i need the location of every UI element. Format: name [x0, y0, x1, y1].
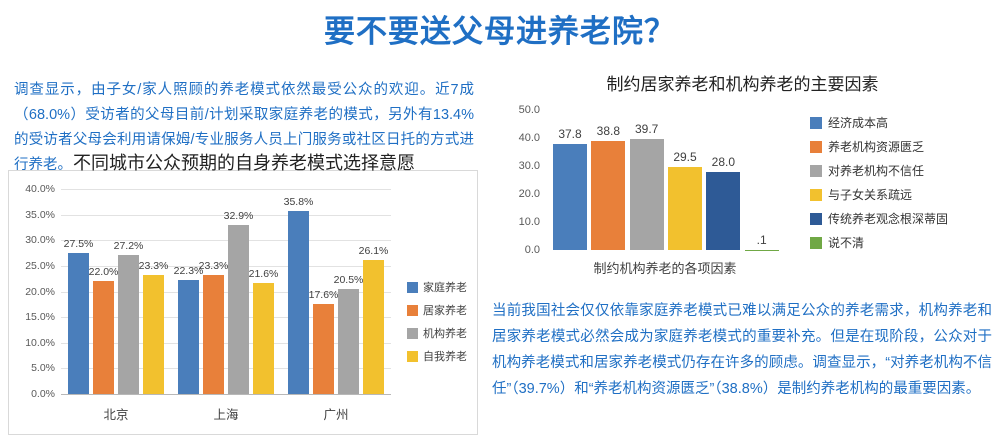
legend-swatch-icon — [810, 213, 822, 225]
right-y-tick: 0.0 — [525, 244, 540, 256]
left-legend-label: 自我养老 — [423, 348, 467, 364]
right-bar-value-label: 29.5 — [673, 150, 696, 164]
legend-swatch-icon — [810, 117, 822, 129]
left-y-tick: 20.0% — [25, 286, 55, 298]
left-legend-item[interactable]: 自我养老 — [407, 348, 467, 364]
left-legend-label: 机构养老 — [423, 325, 467, 341]
left-bar: 17.6% — [313, 304, 334, 394]
left-legend-item[interactable]: 机构养老 — [407, 325, 467, 341]
right-legend-item[interactable]: 说不清 — [810, 234, 948, 251]
left-legend-label: 家庭养老 — [423, 279, 467, 295]
left-x-tick: 广州 — [323, 404, 348, 423]
legend-swatch-icon — [810, 141, 822, 153]
left-bar-value-label: 32.9% — [224, 210, 254, 222]
left-bar: 22.3% — [178, 280, 199, 394]
left-bar-value-label: 21.6% — [249, 268, 279, 280]
legend-swatch-icon — [810, 165, 822, 177]
left-bar-value-label: 27.5% — [64, 238, 94, 250]
left-bar: 20.5% — [338, 289, 359, 394]
right-bar-value-label: 38.8 — [597, 124, 620, 138]
left-y-tick: 15.0% — [25, 311, 55, 323]
right-legend-item[interactable]: 经济成本高 — [810, 114, 948, 131]
left-chart-title: 不同城市公众预期的自身养老模式选择意愿 — [9, 149, 479, 175]
right-chart-legend: 经济成本高养老机构资源匮乏对养老机构不信任与子女关系疏远传统养老观念根深蒂固说不… — [810, 114, 948, 258]
left-bar: 23.3% — [143, 275, 164, 394]
left-y-tick: 10.0% — [25, 337, 55, 349]
left-chart-plot-area: 27.5%22.0%27.2%23.3%22.3%23.3%32.9%21.6%… — [61, 189, 391, 394]
left-y-tick: 25.0% — [25, 260, 55, 272]
legend-swatch-icon — [407, 305, 418, 316]
legend-swatch-icon — [407, 351, 418, 362]
left-bar-value-label: 35.8% — [284, 196, 314, 208]
right-legend-label: 养老机构资源匮乏 — [828, 138, 924, 155]
left-bar: 22.0% — [93, 281, 114, 394]
left-bar: 26.1% — [363, 260, 384, 394]
left-bar-value-label: 23.3% — [139, 260, 169, 272]
left-legend-item[interactable]: 居家养老 — [407, 302, 467, 318]
left-legend-label: 居家养老 — [423, 302, 467, 318]
left-x-tick: 上海 — [213, 404, 238, 423]
left-y-tick: 40.0% — [25, 183, 55, 195]
right-bar: 29.5 — [668, 167, 702, 250]
right-chart: 制约居家养老和机构养老的主要因素 50.040.030.020.010.00.0… — [490, 70, 995, 285]
left-bar: 23.3% — [203, 275, 224, 394]
right-bar: 37.8 — [553, 144, 587, 250]
left-bar-value-label: 20.5% — [334, 274, 364, 286]
right-bar-value-label: 39.7 — [635, 122, 658, 136]
right-y-tick: 20.0 — [519, 188, 540, 200]
left-x-tick: 北京 — [103, 404, 128, 423]
left-chart-legend: 家庭养老居家养老机构养老自我养老 — [407, 279, 467, 371]
right-y-tick: 30.0 — [519, 160, 540, 172]
legend-swatch-icon — [407, 282, 418, 293]
left-bar-group: 22.3%23.3%32.9%21.6% — [171, 189, 281, 394]
right-y-tick: 40.0 — [519, 132, 540, 144]
left-bar-value-label: 22.0% — [89, 266, 119, 278]
left-bar-value-label: 23.3% — [199, 260, 229, 272]
right-legend-label: 对养老机构不信任 — [828, 162, 924, 179]
left-bar: 27.5% — [68, 253, 89, 394]
left-bar: 32.9% — [228, 225, 249, 394]
left-bar-value-label: 17.6% — [309, 289, 339, 301]
right-bar: 38.8 — [591, 141, 625, 250]
right-chart-title: 制约居家养老和机构养老的主要因素 — [490, 70, 995, 95]
right-legend-item[interactable]: 对养老机构不信任 — [810, 162, 948, 179]
left-y-tick: 0.0% — [31, 388, 55, 400]
right-legend-label: 经济成本高 — [828, 114, 888, 131]
legend-swatch-icon — [407, 328, 418, 339]
left-chart: 不同城市公众预期的自身养老模式选择意愿 40.0%35.0%30.0%25.0%… — [8, 170, 478, 435]
legend-swatch-icon — [810, 237, 822, 249]
left-axis-line — [61, 394, 391, 395]
left-bar-value-label: 27.2% — [114, 240, 144, 252]
conclusion-paragraph: 当前我国社会仅仅依靠家庭养老模式已难以满足公众的养老需求，机构养老和居家养老模式… — [492, 298, 992, 402]
right-chart-plot-area: 37.838.839.729.528.0.1 — [550, 110, 780, 250]
right-bar-value-label: 28.0 — [712, 155, 735, 169]
left-bar-group: 27.5%22.0%27.2%23.3% — [61, 189, 171, 394]
page-title: 要不要送父母进养老院？ — [0, 6, 1000, 51]
right-chart-y-axis: 50.040.030.020.010.00.0 — [490, 104, 544, 256]
right-legend-label: 说不清 — [828, 234, 864, 251]
legend-swatch-icon — [810, 189, 822, 201]
left-legend-item[interactable]: 家庭养老 — [407, 279, 467, 295]
right-chart-x-axis-label: 制约机构养老的各项因素 — [550, 258, 780, 277]
left-bar-group: 35.8%17.6%20.5%26.1% — [281, 189, 391, 394]
left-bar: 21.6% — [253, 283, 274, 394]
right-y-tick: 10.0 — [519, 216, 540, 228]
right-legend-item[interactable]: 养老机构资源匮乏 — [810, 138, 948, 155]
right-bar-value-label: 37.8 — [558, 127, 581, 141]
right-legend-label: 与子女关系疏远 — [828, 186, 912, 203]
right-legend-label: 传统养老观念根深蒂固 — [828, 210, 948, 227]
left-bar: 35.8% — [288, 211, 309, 394]
left-bar-value-label: 26.1% — [359, 245, 389, 257]
right-legend-item[interactable]: 传统养老观念根深蒂固 — [810, 210, 948, 227]
left-y-tick: 30.0% — [25, 234, 55, 246]
left-chart-y-axis: 40.0%35.0%30.0%25.0%20.0%15.0%10.0%5.0%0… — [9, 183, 59, 394]
right-legend-item[interactable]: 与子女关系疏远 — [810, 186, 948, 203]
right-y-tick: 50.0 — [519, 104, 540, 116]
right-bar: 39.7 — [630, 139, 664, 250]
right-bar: 28.0 — [706, 172, 740, 250]
left-y-tick: 5.0% — [31, 362, 55, 374]
left-bar: 27.2% — [118, 255, 139, 394]
right-bar-value-label: .1 — [757, 233, 767, 247]
left-y-tick: 35.0% — [25, 209, 55, 221]
